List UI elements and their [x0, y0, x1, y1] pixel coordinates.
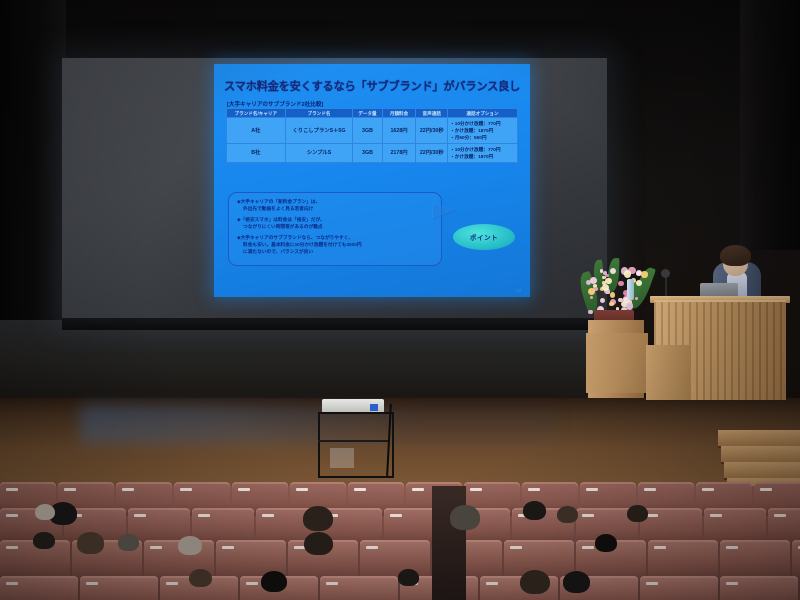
seat [80, 576, 158, 600]
seat-number-tag [510, 546, 522, 549]
stage-curtain-right [740, 0, 800, 250]
bullet-line: 外出先で動画をよく見る若者向け [237, 205, 435, 212]
cell-carrier: B社 [227, 144, 286, 163]
seat-number-tag [6, 546, 18, 549]
flower-bloom [641, 271, 647, 277]
seat-number-tag [6, 488, 18, 491]
flower-bloom [600, 298, 605, 303]
flower-bloom [588, 310, 593, 315]
seat-number-tag [326, 582, 338, 585]
seat-number-tag [166, 582, 178, 585]
seat-number-tag [582, 546, 594, 549]
slide-title: スマホ料金を安くするなら「サブブランド」がバランス良し [224, 78, 524, 94]
equipment-cart [318, 412, 394, 478]
seat [720, 576, 798, 600]
seat-number-tag [246, 582, 258, 585]
side-table [586, 333, 648, 393]
aisle [432, 486, 466, 600]
seat-number-tag [366, 546, 378, 549]
audience-head [627, 505, 648, 522]
flower-bloom [618, 298, 623, 303]
slide-page-number: 19 [516, 288, 521, 293]
seat-number-tag [6, 514, 18, 517]
seat [640, 576, 718, 600]
seat-number-tag [486, 582, 498, 585]
flower-bloom [609, 302, 614, 307]
cell-voice: 22円/30秒 [416, 118, 448, 144]
seat-number-tag [726, 546, 738, 549]
audience-head [178, 536, 201, 555]
seat-number-tag [6, 582, 18, 585]
cell-options: ・10分かけ放題：770円 ・かけ放題：1870円 [448, 144, 518, 163]
seat-number-tag [198, 514, 210, 517]
seat-number-tag [180, 488, 192, 491]
projector-indicator [370, 404, 378, 411]
cell-brand: くりこしプランS＋5G [285, 118, 353, 144]
seat-number-tag [646, 582, 658, 585]
audience-head [520, 570, 550, 595]
audience-head [189, 569, 212, 588]
audience-head [398, 569, 419, 586]
cell-data: 3GB [353, 144, 382, 163]
seat-number-tag [726, 582, 738, 585]
cell-price: 1628円 [382, 118, 416, 144]
seat-number-tag [64, 488, 76, 491]
option-line: ・10分かけ放題：770円 [450, 146, 516, 153]
floral-arrangement [578, 254, 654, 326]
th-brand: ブランド名 [285, 109, 353, 118]
point-badge-label: ポイント [470, 232, 498, 242]
seat-number-tag [390, 514, 402, 517]
podium-lower-step [646, 345, 690, 400]
audience-head [303, 506, 333, 531]
cell-carrier: A社 [227, 118, 286, 144]
audience-head [304, 532, 333, 556]
table-header-row: ブランド名/キャリア ブランド名 データ量 月額料金 音声通話 通話オプション [227, 109, 518, 118]
cart-storage-box [330, 448, 354, 468]
water-bottle-icon [627, 279, 634, 300]
audience-head [523, 501, 547, 520]
presenter-hair [720, 245, 751, 266]
seat-number-tag [296, 488, 308, 491]
flower-bloom [586, 280, 591, 285]
auditorium-photo: スマホ料金を安くするなら「サブブランド」がバランス良し [大手キャリアのサブブラ… [0, 0, 800, 600]
seat [320, 576, 398, 600]
audience-head [557, 506, 578, 523]
option-line: ・月60分：550円 [450, 134, 516, 141]
bullet-line: ◆大手キャリアのサブブランドなら、つながりやすく、 [237, 235, 353, 240]
seat-number-tag [262, 514, 274, 517]
option-line: ・かけ放題：1870円 [450, 153, 516, 160]
table-row: B社 シンプルS 3GB 2178円 22円/30秒 ・10分かけ放題：770円… [227, 144, 518, 163]
callout-tail [432, 203, 456, 219]
seat-number-tag [412, 488, 424, 491]
bullet-line: ◆「格安スマホ」は料金は「格安」だが、 [237, 217, 325, 222]
option-line: ・かけ放題：1870円 [450, 127, 516, 134]
bullet-line: に満たないので、バランスが良い [237, 248, 435, 255]
flower-bloom [618, 281, 623, 286]
seat-number-tag [760, 488, 772, 491]
th-options: 通話オプション [448, 109, 518, 118]
table-row: A社 くりこしプランS＋5G 3GB 1628円 22円/30秒 ・10分かけ放… [227, 118, 518, 144]
bullet-item: ◆「格安スマホ」は料金は「格安」だが、 つながりにくい時間帯があるのが難点 [237, 216, 435, 231]
seat-number-tag [470, 488, 482, 491]
th-voice: 音声通話 [416, 109, 448, 118]
seat-number-tag [528, 488, 540, 491]
seat-number-tag [654, 546, 666, 549]
seat-number-tag [134, 514, 146, 517]
callout-balloon: ◆大手キャリアの「新料金プラン」は、 外出先で動画をよく見る若者向け ◆「格安ス… [228, 192, 442, 266]
cell-options: ・10分かけ放題：770円 ・かけ放題：1870円 ・月60分：550円 [448, 118, 518, 144]
flower-bloom [610, 268, 616, 274]
flower-bloom [588, 288, 595, 295]
option-line: ・10分かけ放題：770円 [450, 120, 516, 127]
audience-head [33, 532, 54, 549]
cell-brand: シンプルS [285, 144, 353, 163]
seat-number-tag [702, 488, 714, 491]
seat-number-tag [354, 488, 366, 491]
seat-number-tag [586, 488, 598, 491]
microphone-icon [661, 269, 670, 278]
audience-head [261, 571, 287, 592]
table-caption: [大手キャリアのサブブランド2社比較] [227, 100, 323, 108]
seat-number-tag [122, 488, 134, 491]
comparison-table: ブランド名/キャリア ブランド名 データ量 月額料金 音声通話 通話オプション … [226, 108, 518, 163]
th-price: 月額料金 [382, 109, 416, 118]
seat-number-tag [238, 488, 250, 491]
seat-number-tag [150, 546, 162, 549]
th-data: データ量 [353, 109, 382, 118]
cart-shelf [318, 440, 390, 442]
audience-head [77, 532, 103, 553]
bullet-line: 料金も安い。基本料金に10分かけ放題を付けても3000円 [237, 241, 435, 248]
cell-data: 3GB [353, 118, 382, 144]
flower-leaf [607, 258, 619, 292]
bullet-line: つながりにくい時間帯があるのが難点 [237, 223, 435, 230]
seat-number-tag [582, 514, 594, 517]
bullet-item: ◆大手キャリアのサブブランドなら、つながりやすく、 料金も安い。基本料金に10分… [237, 234, 435, 256]
stage-apron-wall [0, 320, 612, 400]
bullet-line: ◆大手キャリアの「新料金プラン」は、 [237, 199, 320, 204]
bullet-item: ◆大手キャリアの「新料金プラン」は、 外出先で動画をよく見る若者向け [237, 198, 435, 213]
audience-head [595, 534, 617, 552]
cell-voice: 22円/30秒 [416, 144, 448, 163]
projected-slide: スマホ料金を安くするなら「サブブランド」がバランス良し [大手キャリアのサブブラ… [214, 64, 530, 297]
audience-head [563, 571, 590, 593]
flower-bloom [636, 280, 642, 286]
seat [0, 576, 78, 600]
seat-number-tag [774, 514, 786, 517]
point-badge: ポイント [453, 224, 515, 250]
seat-number-tag [86, 582, 98, 585]
audience-head [118, 534, 138, 551]
flower-bloom [624, 270, 632, 278]
flower-bloom [610, 292, 616, 298]
cell-price: 2178円 [382, 144, 416, 163]
audience-head [450, 505, 480, 529]
audience-head [35, 504, 55, 521]
seat-number-tag [644, 488, 656, 491]
callout-bullets: ◆大手キャリアの「新料金プラン」は、 外出先で動画をよく見る若者向け ◆「格安ス… [237, 198, 435, 259]
audience-seating [0, 486, 800, 600]
seat-number-tag [222, 546, 234, 549]
seat-number-tag [710, 514, 722, 517]
stage-floor [0, 398, 800, 490]
th-carrier: ブランド名/キャリア [227, 109, 286, 118]
